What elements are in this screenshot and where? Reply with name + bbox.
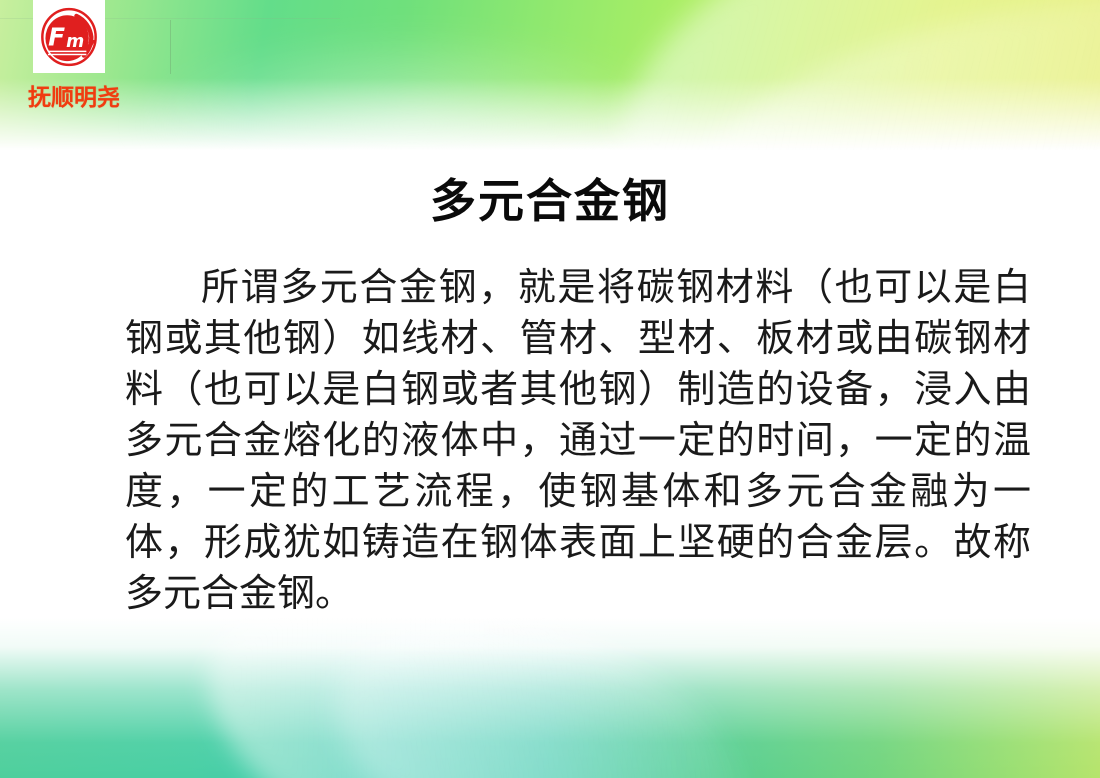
fmy-circular-logo-icon: F m y xyxy=(38,6,100,68)
slide-body-paragraph: 所谓多元合金钢，就是将碳钢材料（也可以是白钢或其他钢）如线材、管材、型材、板材或… xyxy=(125,262,1031,619)
svg-text:y: y xyxy=(83,34,96,55)
svg-text:m: m xyxy=(66,31,84,51)
logo-white-card: F m y xyxy=(33,0,105,73)
bottom-decorative-banner xyxy=(0,618,1100,778)
presentation-slide: F m y 抚顺明尧 多元合金钢 所谓多元合金钢，就是将碳钢材料（也可以是白钢或… xyxy=(0,0,1100,778)
slide-content: 多元合金钢 所谓多元合金钢，就是将碳钢材料（也可以是白钢或其他钢）如线材、管材、… xyxy=(0,150,1100,630)
top-decorative-banner xyxy=(0,0,1100,150)
top-banner-vertical-streak xyxy=(170,20,171,74)
top-banner-glow-left xyxy=(132,30,692,150)
slide-title: 多元合金钢 xyxy=(0,165,1100,231)
company-name-label: 抚顺明尧 xyxy=(14,78,134,112)
svg-text:F: F xyxy=(48,22,65,51)
